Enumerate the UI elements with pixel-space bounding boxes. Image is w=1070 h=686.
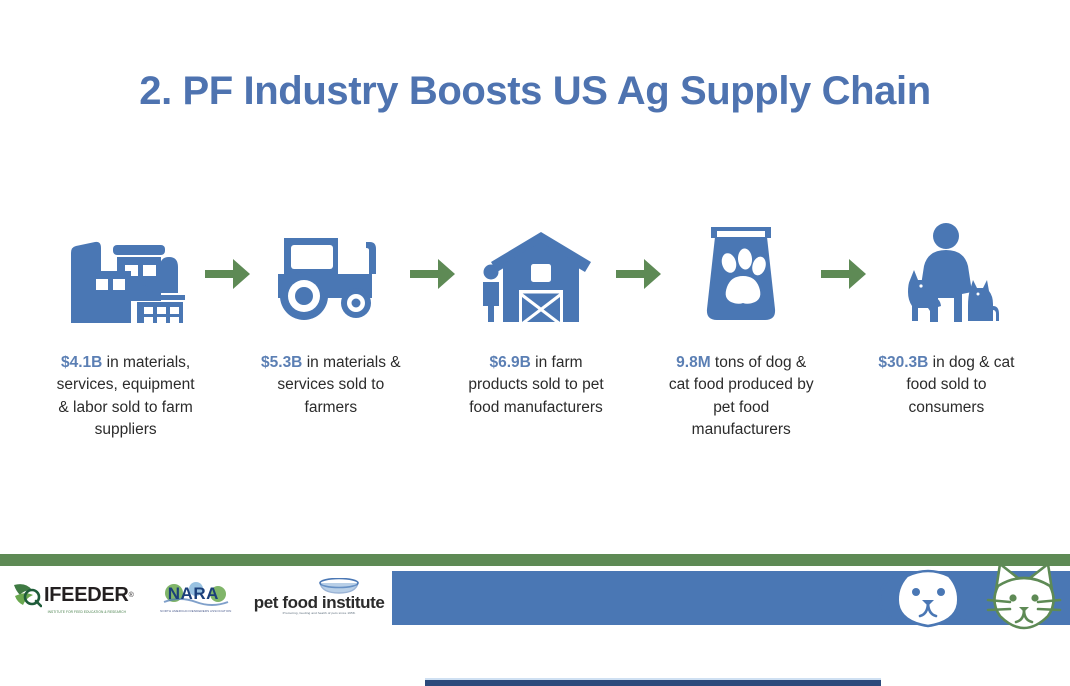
logo-wordmark: NARA: [168, 585, 219, 602]
step-caption: $30.3B in dog & cat food sold to consume…: [873, 352, 1020, 419]
footer-logos: IFEEDER ® INSTITUTE FOR FEED EDUCATION &…: [0, 571, 392, 625]
viewer-bottom-scrollbar[interactable]: [425, 678, 881, 686]
dog-face-icon: [880, 571, 976, 626]
arrow-right-icon: [610, 218, 668, 330]
step-value: 9.8M: [676, 354, 710, 371]
registered-mark: ®: [129, 592, 134, 599]
step-caption: $6.9B in farm products sold to pet food …: [462, 352, 609, 419]
logo-wordmark: IFEEDER: [44, 585, 129, 605]
barn-icon: [477, 218, 595, 330]
arrow-right-icon: [199, 218, 257, 330]
flow-step-factory: $4.1B in materials, services, equipment …: [52, 218, 199, 441]
pet-bowl-icon: [318, 578, 360, 595]
arrow-right-icon: [815, 218, 873, 330]
logo-nara: NARA NORTH AMERICAN RENDERERS ASSOCIATIO…: [160, 582, 232, 613]
logo-pet-food-institute: pet food institute Promoting, feeding an…: [254, 580, 385, 616]
pet-food-bag-icon: [693, 218, 789, 330]
tractor-icon: [272, 218, 390, 330]
page-title: 2. PF Industry Boosts US Ag Supply Chain: [0, 68, 1070, 114]
supply-chain-flow: $4.1B in materials, services, equipment …: [52, 218, 1020, 441]
flow-step-tractor: $5.3B in materials & services sold to fa…: [257, 218, 404, 419]
factory-icon: [65, 218, 187, 330]
logo-tagline: NORTH AMERICAN RENDERERS ASSOCIATION: [160, 610, 231, 614]
flow-step-barn: $6.9B in farm products sold to pet food …: [462, 218, 609, 419]
logo-ifeeder: IFEEDER ® INSTITUTE FOR FEED EDUCATION &…: [12, 582, 134, 614]
step-value: $4.1B: [61, 354, 102, 371]
step-value: $30.3B: [878, 354, 928, 371]
arrow-right-icon: [404, 218, 462, 330]
flow-step-consumer: $30.3B in dog & cat food sold to consume…: [873, 218, 1020, 419]
consumer-with-pets-icon: [892, 218, 1000, 330]
cat-face-icon: [988, 564, 1060, 628]
logo-wordmark: pet food institute: [254, 594, 385, 611]
step-caption: $5.3B in materials & services sold to fa…: [257, 352, 404, 419]
step-value: $6.9B: [489, 354, 530, 371]
step-caption: 9.8M tons of dog & cat food produced by …: [668, 352, 815, 441]
logo-tagline: INSTITUTE FOR FEED EDUCATION & RESEARCH: [48, 610, 126, 614]
step-caption: $4.1B in materials, services, equipment …: [52, 352, 199, 441]
logo-tagline: Promoting, feeding and health of pets si…: [283, 612, 356, 616]
footer-pet-faces: [876, 556, 1066, 642]
step-value: $5.3B: [261, 354, 302, 371]
flow-step-pet-food-bag: 9.8M tons of dog & cat food produced by …: [668, 218, 815, 441]
ifeeder-leaf-icon: [12, 582, 42, 608]
